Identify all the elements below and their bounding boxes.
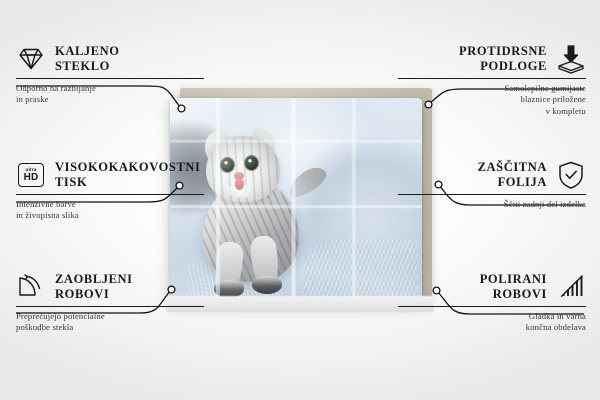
kitten-tongue (235, 179, 244, 190)
feature-header: KALJENOSTEKLO (16, 44, 204, 75)
diagonal-stripes-icon (556, 272, 586, 302)
feature-title: POLIRANIROBOVI (480, 272, 547, 303)
divider (16, 78, 204, 79)
feature-description: Gladka in varnakončna obdelava (398, 311, 586, 334)
feature-description: Intenzivne barvein živopisna slika (16, 199, 204, 222)
feature-protective-film: ZAŠČITNAFOLIJA Ščiti zadnji del izdelka (398, 160, 586, 210)
divider (398, 306, 586, 307)
divider (16, 306, 204, 307)
hd-label: HD (24, 173, 39, 183)
feature-description: Preprečujejo potencialnepoškodbe stekla (16, 311, 204, 334)
divider (398, 78, 586, 79)
divider (398, 194, 586, 195)
kitten-tail (284, 162, 330, 201)
feature-title: ZAOBLJENIROBOVI (55, 272, 133, 303)
feature-anti-slip-pads: PROTIDRSNEPODLOGE Samolepilne gumijasteb… (398, 44, 586, 117)
product-base-shadow (166, 296, 434, 312)
feature-header: ZAŠČITNAFOLIJA (398, 160, 586, 191)
feature-header: ultra HD VISOKOKAKOVOSTNITISK (16, 160, 204, 191)
product-image (170, 88, 432, 310)
feature-title: VISOKOKAKOVOSTNITISK (55, 160, 201, 191)
feature-polished-edges: POLIRANIROBOVI Gladka in varnakončna obd… (398, 272, 586, 334)
kitten-illustration (194, 114, 322, 300)
feature-title: KALJENOSTEKLO (55, 44, 120, 75)
ultra-hd-badge-icon: ultra HD (16, 160, 46, 190)
feature-hd-print: ultra HD VISOKOKAKOVOSTNITISK Intenzivne… (16, 160, 204, 222)
rounded-corner-icon (16, 272, 46, 302)
feature-title: PROTIDRSNEPODLOGE (459, 44, 547, 75)
feature-header: ZAOBLJENIROBOVI (16, 272, 204, 303)
feature-description: Samolepilne gumijasteblaznice priloženev… (398, 83, 586, 117)
feature-rounded-edges: ZAOBLJENIROBOVI Preprečujejo potencialne… (16, 272, 204, 334)
kitten-eye-left (221, 158, 234, 172)
feature-description: Ščiti zadnji del izdelka (398, 199, 586, 210)
feature-tempered-glass: KALJENOSTEKLO Odporno na razbijanjein pr… (16, 44, 204, 106)
feature-header: POLIRANIROBOVI (398, 272, 586, 303)
printed-glass-panel (170, 98, 422, 303)
kitten-paw-right (252, 276, 282, 294)
divider (16, 194, 204, 195)
feature-title: ZAŠČITNAFOLIJA (478, 160, 547, 191)
diamond-icon (16, 44, 46, 74)
kitten-photo (170, 98, 422, 303)
kitten-eye-right (245, 156, 258, 170)
feature-description: Odporno na razbijanjein praske (16, 83, 204, 106)
shield-check-icon (556, 160, 586, 190)
feature-header: PROTIDRSNEPODLOGE (398, 44, 586, 75)
arrow-down-pad-icon (556, 44, 586, 74)
